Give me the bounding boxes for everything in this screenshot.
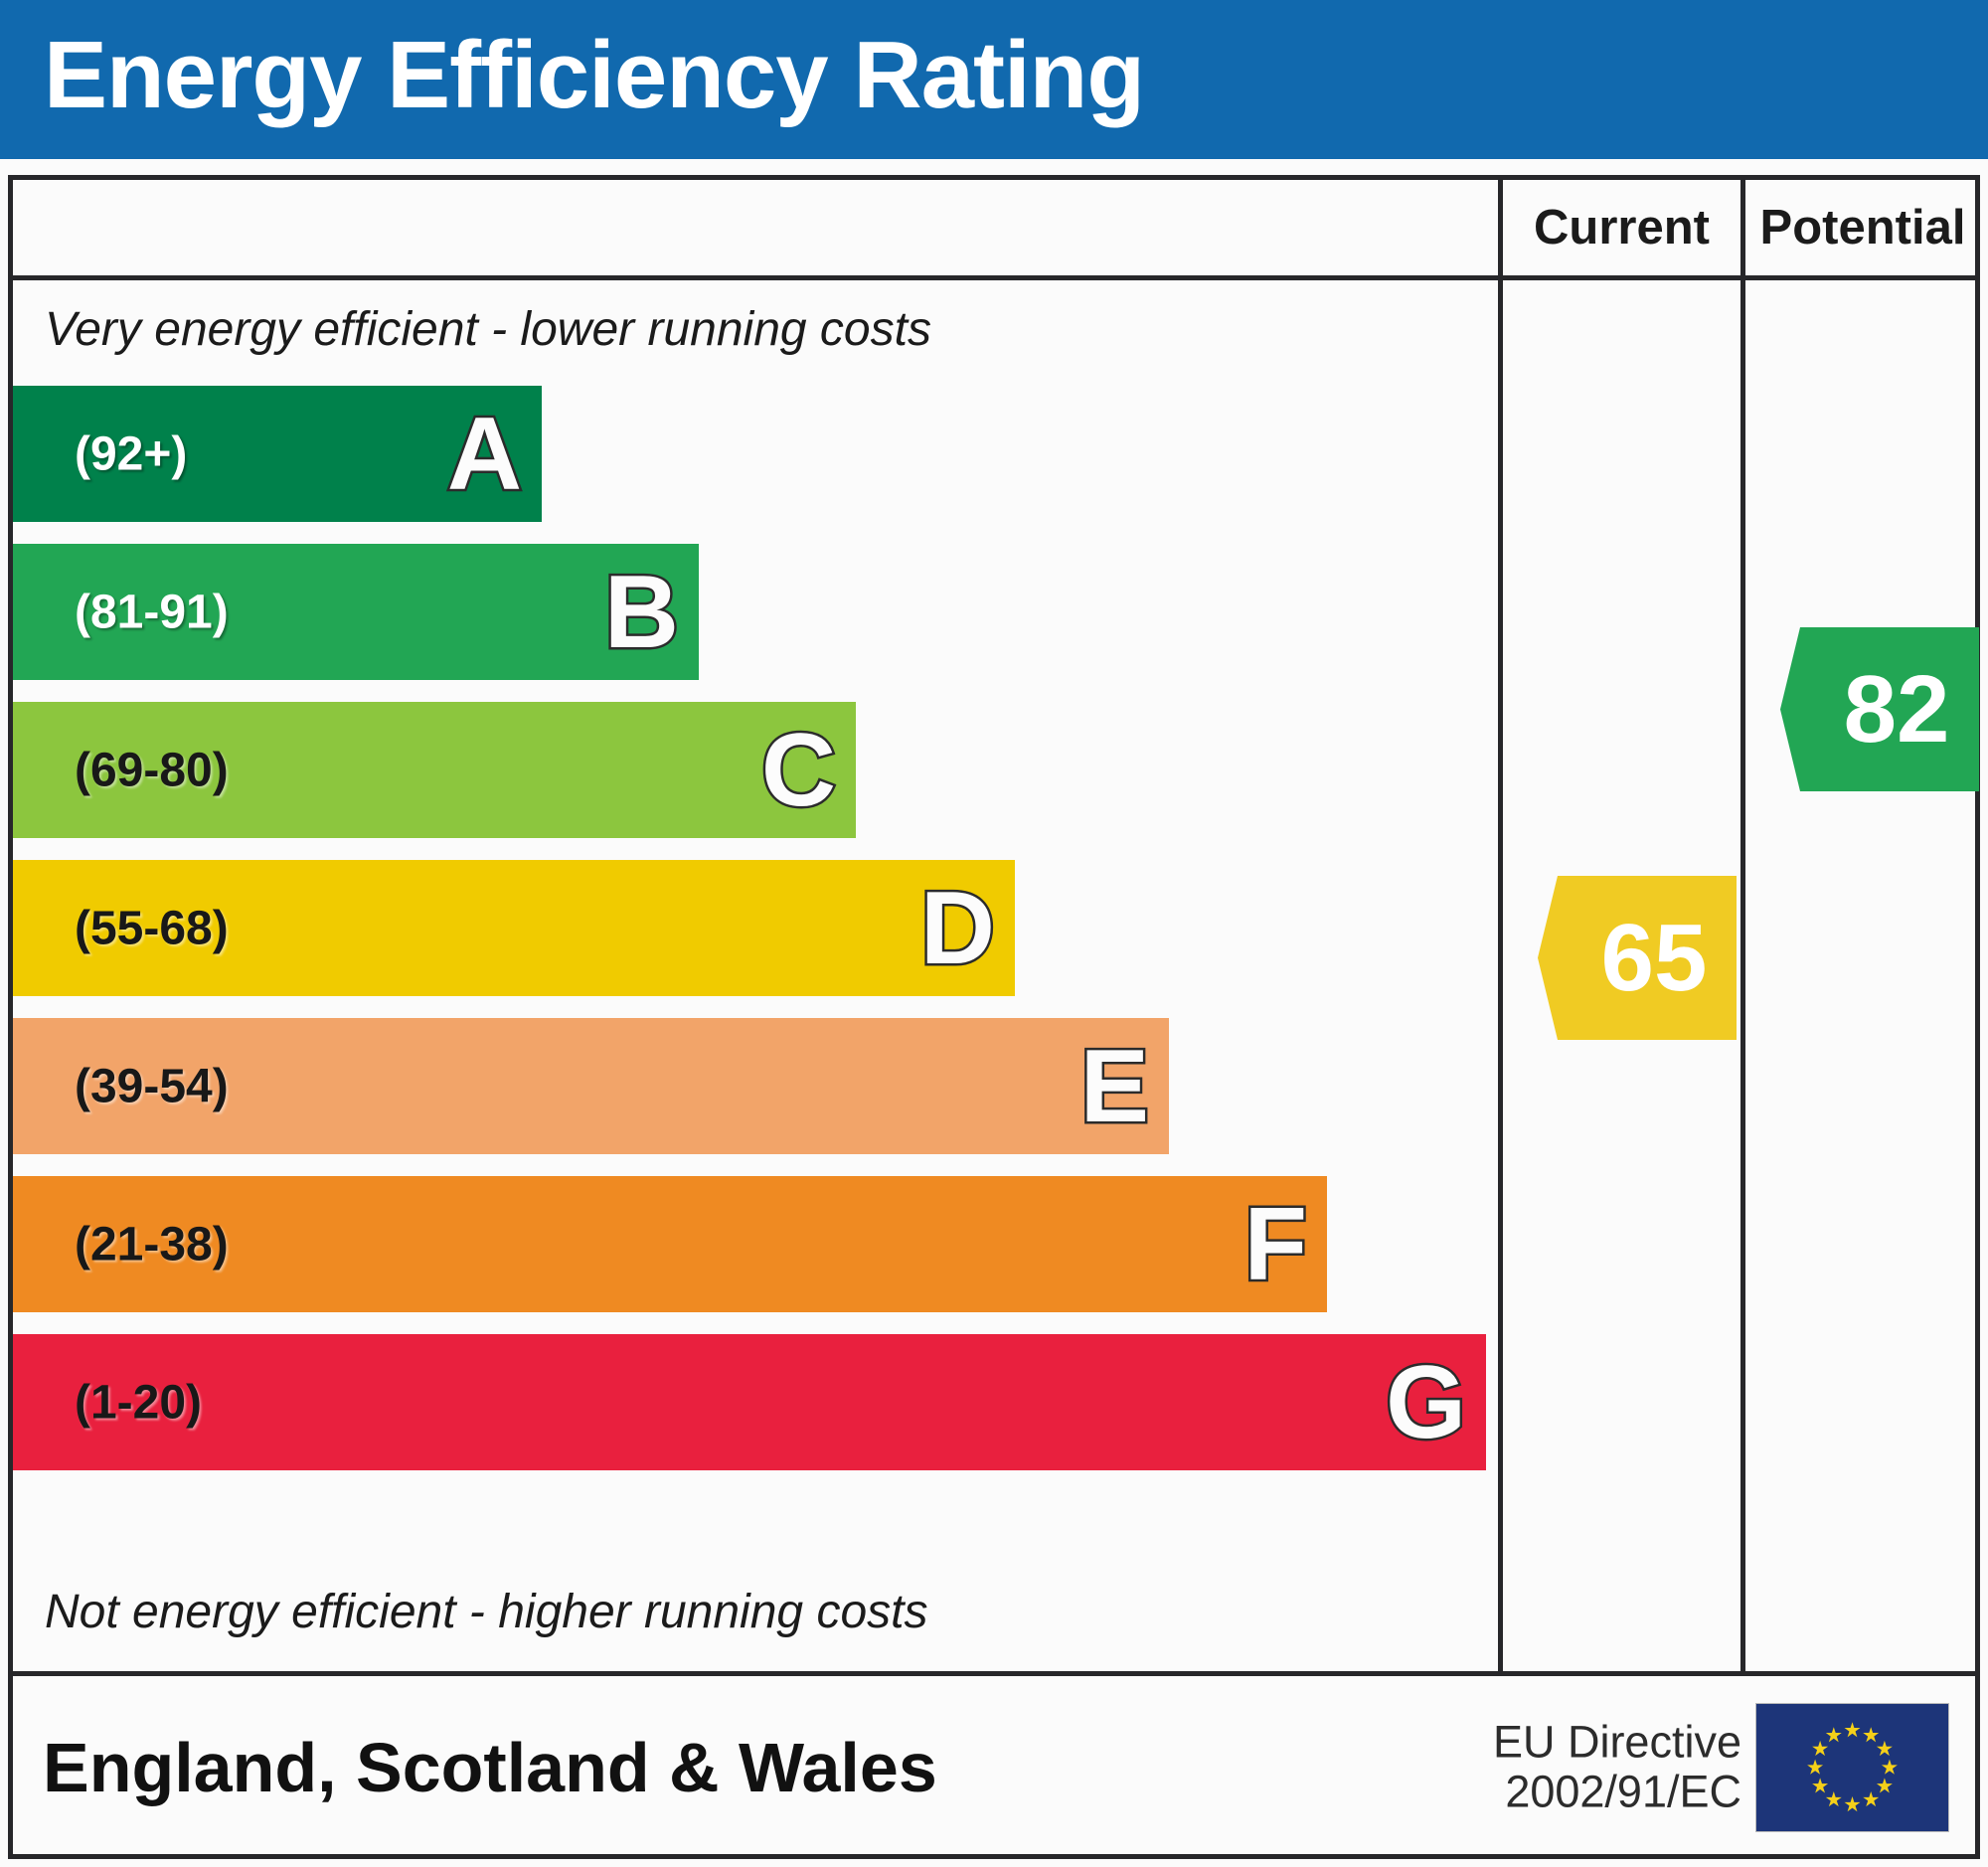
column-header-potential: Potential <box>1740 180 1980 275</box>
band-row-e: (39-54) E <box>13 1018 1169 1154</box>
current-rating-arrow: 65 <box>1538 876 1737 1040</box>
caption-top: Very energy efficient - lower running co… <box>45 302 931 357</box>
band-range-d: (55-68) <box>75 901 229 955</box>
column-divider-potential <box>1740 280 1745 1671</box>
band-row-g: (1-20) G <box>13 1334 1486 1470</box>
potential-rating-value: 82 <box>1810 662 1950 758</box>
band-range-c: (69-80) <box>75 743 229 797</box>
chart-frame: Current Potential Very energy efficient … <box>8 175 1980 1859</box>
column-header-row: Current Potential <box>13 180 1975 280</box>
potential-rating-arrow: 82 <box>1780 627 1979 791</box>
page-title: Energy Efficiency Rating <box>44 16 1144 135</box>
title-bar: Energy Efficiency Rating <box>0 0 1988 159</box>
band-range-e: (39-54) <box>75 1059 229 1113</box>
band-range-g: (1-20) <box>75 1375 202 1430</box>
band-letter-b: B <box>604 561 679 664</box>
band-letter-a: A <box>447 403 522 506</box>
band-range-b: (81-91) <box>75 585 229 639</box>
band-letter-e: E <box>1080 1035 1149 1138</box>
band-letter-f: F <box>1243 1193 1307 1296</box>
band-letter-d: D <box>920 877 995 980</box>
band-range-a: (92+) <box>75 426 187 481</box>
band-letter-g: G <box>1386 1351 1466 1454</box>
band-row-f: (21-38) F <box>13 1176 1327 1312</box>
band-letter-c: C <box>761 719 836 822</box>
footer-bar: England, Scotland & Wales EU Directive 2… <box>13 1671 1975 1858</box>
footer-region-label: England, Scotland & Wales <box>43 1728 937 1807</box>
energy-efficiency-rating-certificate: Energy Efficiency Rating Current Potenti… <box>0 0 1988 1867</box>
column-header-current: Current <box>1498 180 1740 275</box>
caption-bottom: Not energy efficient - higher running co… <box>45 1585 927 1639</box>
band-bars: (92+) A (81-91) B (69-80) C (55-68) D (3… <box>13 386 1498 1569</box>
eu-directive-text: EU Directive 2002/91/EC <box>1493 1717 1741 1817</box>
band-row-b: (81-91) B <box>13 544 699 680</box>
chart-body: Very energy efficient - lower running co… <box>13 280 1498 1671</box>
current-rating-value: 65 <box>1568 911 1708 1006</box>
column-divider-current <box>1498 280 1503 1671</box>
eu-flag-icon <box>1755 1703 1949 1832</box>
band-row-d: (55-68) D <box>13 860 1015 996</box>
band-range-f: (21-38) <box>75 1217 229 1272</box>
eu-directive-line-2: 2002/91/EC <box>1493 1768 1741 1817</box>
band-row-a: (92+) A <box>13 386 542 522</box>
eu-directive-line-1: EU Directive <box>1493 1717 1741 1767</box>
band-row-c: (69-80) C <box>13 702 856 838</box>
